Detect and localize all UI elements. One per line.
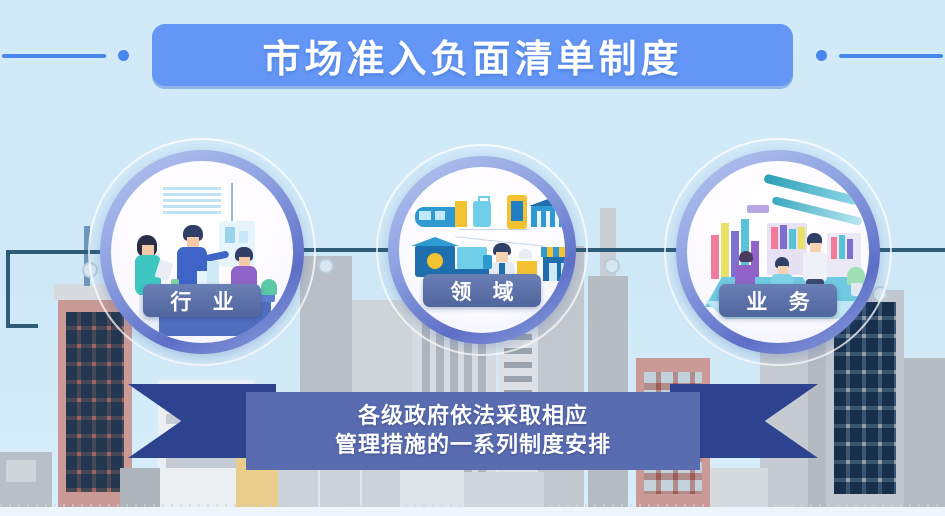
node-industry[interactable]: 行 业 (100, 150, 304, 354)
header-dot-right (816, 50, 827, 61)
ribbon-line-2: 管理措施的一系列制度安排 (335, 431, 611, 460)
page-title: 市场准入负面清单制度 (262, 28, 682, 83)
node-label-domain: 领 域 (443, 276, 520, 306)
node-business[interactable]: 业 务 (676, 150, 880, 354)
node-label-industry: 行 业 (163, 286, 240, 316)
header-dot-left (118, 50, 129, 61)
node-inner-disc: 业 务 (687, 161, 869, 343)
node-inner-disc: 行 业 (111, 161, 293, 343)
ribbon-body: 各级政府依法采取相应 管理措施的一系列制度安排 (246, 392, 700, 470)
summary-ribbon: 各级政府依法采取相应 管理措施的一系列制度安排 (128, 378, 818, 470)
node-label-badge-business[interactable]: 业 务 (719, 284, 837, 317)
ground-band (0, 507, 945, 516)
page-title-box: 市场准入负面清单制度 (152, 24, 793, 86)
node-inner-disc: 领 域 (399, 167, 565, 333)
infographic-canvas: 市场准入负面清单制度 (0, 0, 945, 516)
header-rule-left (2, 54, 106, 58)
node-label-badge-industry[interactable]: 行 业 (143, 284, 261, 317)
node-domain[interactable]: 领 域 (388, 156, 576, 344)
header-rule-right (839, 54, 943, 58)
sectors-icons-illustration (399, 167, 565, 333)
node-label-business: 业 务 (739, 286, 816, 316)
node-label-badge-domain[interactable]: 领 域 (423, 274, 541, 307)
ribbon-line-1: 各级政府依法采取相应 (358, 402, 588, 431)
